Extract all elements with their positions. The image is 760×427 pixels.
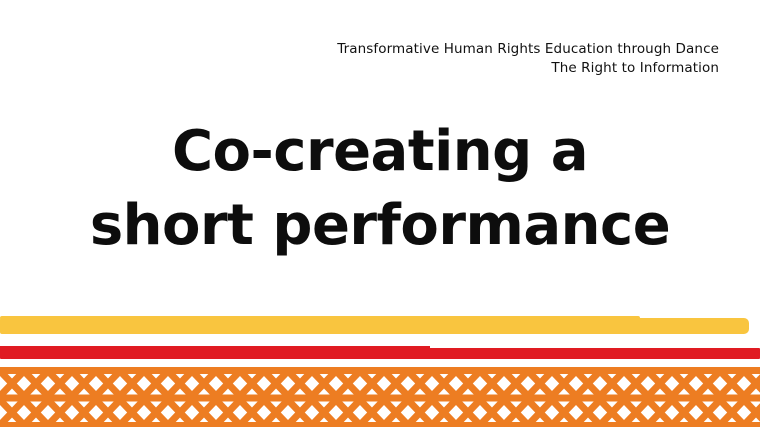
title-line-1: Co-creating a: [0, 115, 760, 189]
title-line-2: short performance: [0, 189, 760, 263]
header-line-course-title: Transformative Human Rights Education th…: [299, 40, 719, 59]
slide-canvas: Transformative Human Rights Education th…: [0, 0, 760, 427]
lattice-svg: [0, 367, 760, 427]
yellow-band-decoration: [0, 318, 749, 334]
slide-header: Transformative Human Rights Education th…: [299, 40, 719, 78]
orange-woven-lattice-border: [0, 367, 760, 427]
page-title: Co-creating a short performance: [0, 115, 760, 263]
red-band-decoration: [0, 348, 760, 359]
header-line-topic: The Right to Information: [299, 59, 719, 78]
